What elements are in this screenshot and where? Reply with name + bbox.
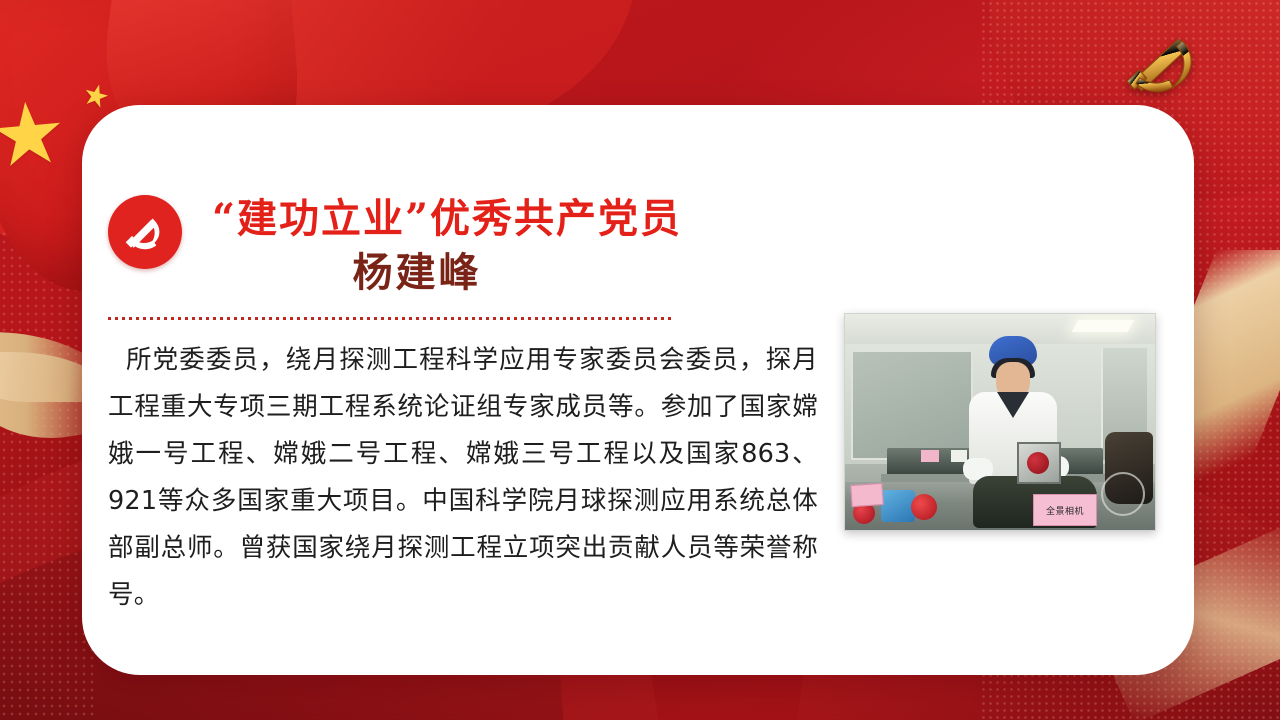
photo-pink-tag-1 bbox=[921, 450, 939, 462]
photo-ceiling-light bbox=[1072, 320, 1134, 332]
person-photo: 全景相机 bbox=[844, 313, 1156, 531]
photo-blue-fixture bbox=[881, 490, 915, 522]
page-title: “建功立业”优秀共产党员 bbox=[212, 195, 682, 244]
flag-star-large: ★ bbox=[0, 89, 70, 181]
slide-root: ★ ★ ★ ★ ★ bbox=[0, 0, 1280, 720]
dotted-divider bbox=[108, 317, 671, 320]
party-emblem-gold-icon bbox=[1112, 28, 1208, 100]
person-name: 杨建峰 bbox=[212, 248, 682, 298]
photo-wires bbox=[1101, 472, 1145, 516]
texture-dots-left bbox=[0, 230, 95, 720]
content-card: “建功立业”优秀共产党员 杨建峰 所党委委员，绕月探测工程科学应用专家委员会委员… bbox=[82, 105, 1194, 675]
photo-pink-tag-2 bbox=[850, 483, 883, 507]
photo-red-component-2 bbox=[911, 494, 937, 520]
header-block: “建功立业”优秀共产党员 杨建峰 bbox=[108, 195, 682, 298]
photo-label-card: 全景相机 bbox=[1033, 494, 1097, 526]
photo-scene: 全景相机 bbox=[845, 314, 1155, 530]
flag-star-small-1: ★ bbox=[79, 79, 113, 115]
photo-camera-lens bbox=[1027, 452, 1049, 474]
photo-label-text: 全景相机 bbox=[1046, 504, 1084, 517]
title-group: “建功立业”优秀共产党员 杨建峰 bbox=[212, 195, 682, 298]
photo-wall-panel bbox=[851, 350, 973, 460]
biography-paragraph: 所党委委员，绕月探测工程科学应用专家委员会委员，探月工程重大专项三期工程系统论证… bbox=[108, 337, 818, 619]
party-emblem-badge-icon bbox=[108, 195, 182, 269]
